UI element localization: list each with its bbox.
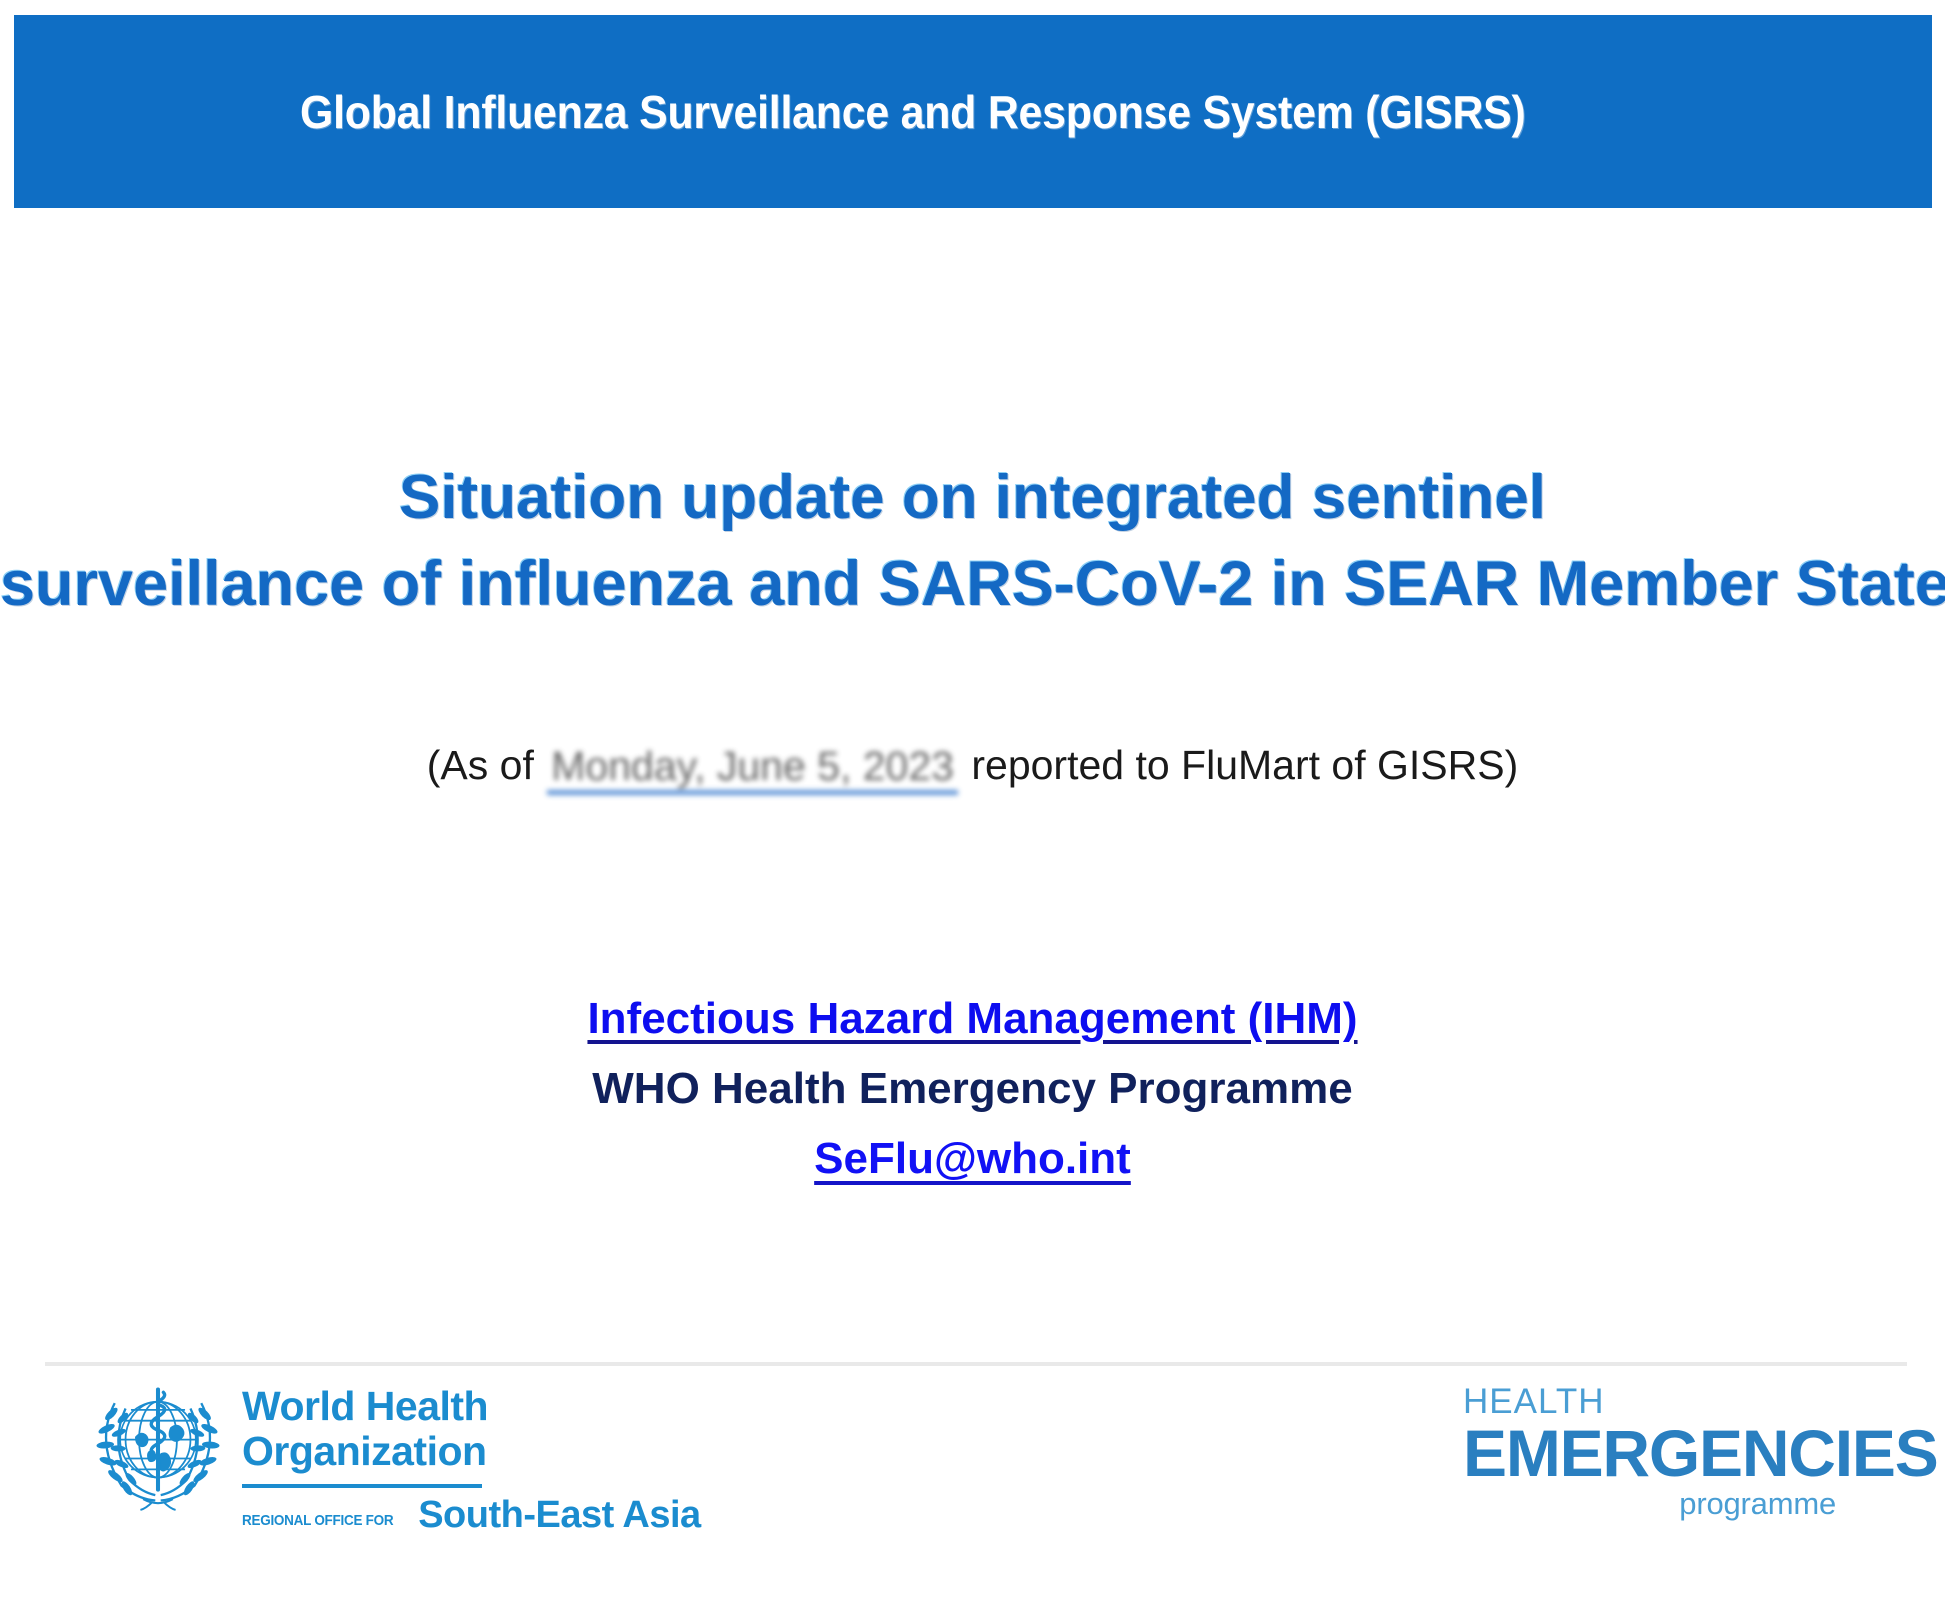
who-name-line-1: World Health [242,1384,701,1429]
who-logo: World Health Organization REGIONAL OFFIC… [90,1372,490,1562]
who-logo-rule [242,1484,482,1488]
health-emergencies-logo: HEALTH EMERGENCIES programme [1463,1383,1838,1522]
who-name-line-2: Organization [242,1429,701,1474]
contact-unit-row: Infectious Hazard Management (IHM) [0,984,1945,1054]
slide-title: Situation update on integrated sentinel … [0,455,1945,627]
contact-email-link[interactable]: SeFlu@who.int [814,1134,1131,1183]
as-of-suffix: reported to FluMart of GISRS) [971,742,1518,788]
contact-programme: WHO Health Emergency Programme [0,1054,1945,1124]
contact-block: Infectious Hazard Management (IHM) WHO H… [0,984,1945,1194]
who-wordmark: World Health Organization REGIONAL OFFIC… [242,1372,701,1535]
as-of-prefix: (As of [427,742,534,788]
footer-divider [45,1362,1907,1366]
contact-email-row: SeFlu@who.int [0,1124,1945,1194]
who-region-prefix: REGIONAL OFFICE FOR [242,1512,393,1529]
health-emergencies-line-3: programme [1463,1486,1838,1522]
header-banner-title: Global Influenza Surveillance and Respon… [300,85,1526,139]
as-of-date-redacted: Monday, June 5, 2023 [547,743,958,795]
as-of-line: (As of Monday, June 5, 2023 reported to … [0,742,1945,794]
health-emergencies-line-1: HEALTH [1463,1383,1838,1420]
slide-title-line-1: Situation update on integrated sentinel [0,455,1945,541]
who-region-row: REGIONAL OFFICE FOR South-East Asia [242,1495,701,1535]
who-region-name: South-East Asia [418,1495,700,1535]
header-banner: Global Influenza Surveillance and Respon… [14,15,1932,208]
contact-unit-link[interactable]: Infectious Hazard Management (IHM) [587,994,1357,1043]
health-emergencies-line-2: EMERGENCIES [1463,1420,1838,1486]
slide-title-line-2: surveillance of influenza and SARS-CoV-2… [0,541,1945,627]
who-emblem-icon [90,1372,226,1514]
